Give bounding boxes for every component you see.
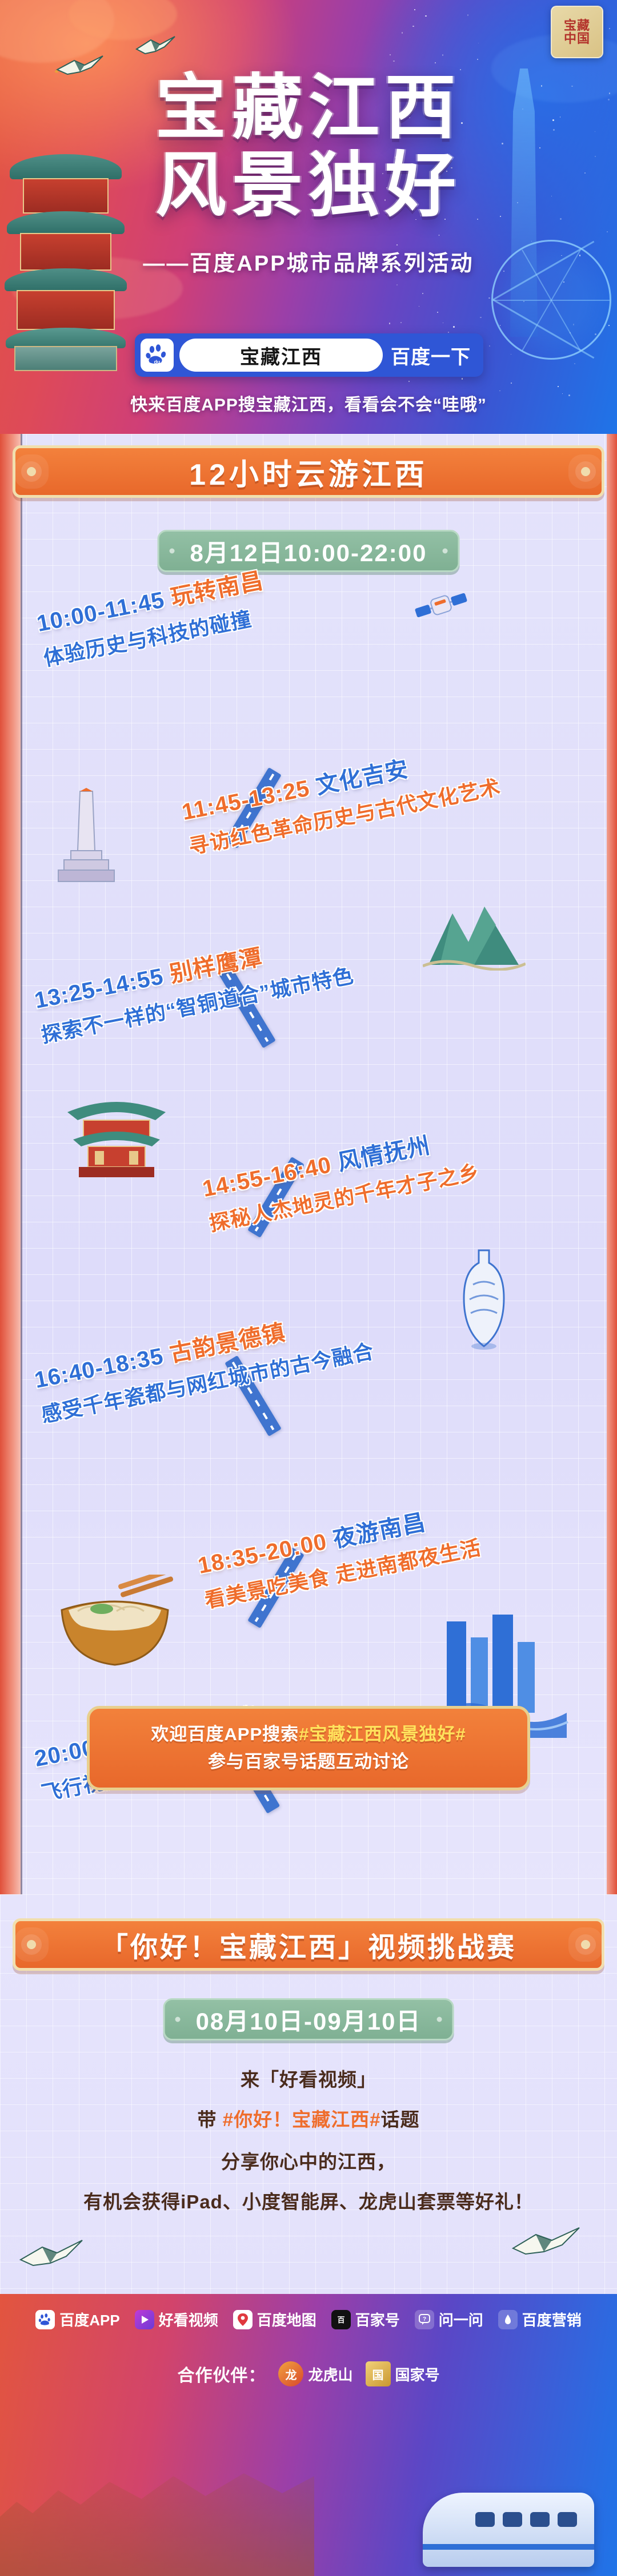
timeline-item[interactable]: 16:40-18:35 古韵景德镇 感受千年瓷都与网红城市的古今融合 [31,1298,376,1428]
svg-text:du: du [154,359,161,365]
product-label: 百度地图 [257,2309,316,2330]
partner-longhushan[interactable]: 龙 龙虎山 [278,2361,352,2386]
high-speed-train-illustration [423,2493,594,2567]
notebook-left-edge [0,434,21,1894]
play-triangle-icon [135,2310,154,2329]
tour-cta-box[interactable]: 欢迎百度APP搜索#宝藏江西风景独好# 参与百家号话题互动讨论 [87,1706,530,1790]
campaign-seal-stamp: 宝藏 中国 [551,6,603,58]
product-wenyiwen[interactable]: ? 问一问 [415,2309,483,2330]
challenge-hashtag: #你好！宝藏江西# [223,2109,381,2130]
marketing-icon [498,2310,518,2329]
notebook-right-edge [607,434,617,1894]
challenge-line-2-prefix: 带 [198,2109,223,2130]
tour-section-title: 12小时云游江西 [189,450,428,493]
tour-section-title-ribbon: 12小时云游江西 [13,445,604,498]
partner-guojiahao[interactable]: 国 国家号 [366,2361,440,2386]
tour-section: 12小时云游江西 8月12日10:00-22:00 10:00-11:45 玩转… [0,434,617,1894]
challenge-line-1-text: 来「好看视频」 [241,2069,376,2090]
search-submit-button[interactable]: 百度一下 [388,341,478,369]
partners-label: 合作伙伴： [177,2361,266,2386]
product-label: 问一问 [439,2309,483,2330]
ribbon-rivet-left [27,1940,36,1949]
baidu-paw-icon [35,2310,55,2329]
cta-line-2: 参与百家号话题互动讨论 [208,1748,409,1776]
timeline-item[interactable]: 18:35-20:00 夜游南昌 看美景吃美食 走进南都夜生活 [195,1494,483,1614]
baidu-product-list: 百度APP 好看视频 百度地图 百 百家号 [0,2309,617,2330]
title-line-1: 宝藏江西 [0,72,617,144]
city-skyline-icon [434,1610,548,1718]
tour-date-badge: 8月12日10:00-22:00 [158,530,460,572]
challenge-section-title: 「你好！宝藏江西」视频挑战赛 [101,1925,516,1965]
challenge-line-1: 来「好看视频」 [0,2064,617,2092]
cta-prefix: 欢迎百度APP搜索 [151,1724,299,1744]
question-bubble-icon: ? [415,2310,434,2329]
satellite-icon [402,573,481,637]
product-label: 百家号 [355,2309,400,2330]
monument-icon [55,788,118,879]
baidu-paw-icon: du [141,339,174,372]
video-challenge-section: 「你好！宝藏江西」视频挑战赛 08月10日-09月10日 来「好看视频」 带 #… [0,1894,617,2294]
challenge-line-2-suffix: 话题 [380,2109,419,2130]
temple-icon [59,1089,151,1164]
svg-text:?: ? [423,2316,426,2323]
hero-subtitle: ——百度APP城市品牌系列活动 [0,245,617,277]
national-mark-icon: 国 [366,2361,391,2386]
great-wall-illustration [0,2433,314,2576]
product-label: 百度APP [59,2309,119,2330]
baijiahao-icon: 百 [331,2310,351,2329]
product-baidu-map[interactable]: 百度地图 [233,2309,316,2330]
product-label: 好看视频 [159,2309,218,2330]
challenge-line-3: 分享你心中的江西， [0,2147,617,2174]
product-baidu-app[interactable]: 百度APP [35,2309,119,2330]
porcelain-vase-icon [447,1245,510,1336]
challenge-line-2: 带 #你好！宝藏江西#话题 [0,2104,617,2132]
product-baidu-marketing[interactable]: 百度营销 [498,2309,582,2330]
title-line-2: 风景独好 [0,150,617,222]
hero-caption: 快来百度APP搜宝藏江西，看看会不会“哇哦” [0,391,617,416]
hero-banner: 宝藏 中国 宝藏江西 风景独好 ——百度APP城市品牌系列活动 du 宝藏江西 … [0,0,617,434]
search-input[interactable]: 宝藏江西 [179,339,383,372]
timeline-item[interactable]: 13:25-14:55 别样鹰潭 探索不一样的“智铜道合”城市特色 [31,922,356,1049]
crane-bird-icon [508,2223,583,2260]
crane-bird-icon [135,34,177,57]
ribbon-rivet-right [581,1940,590,1949]
challenge-date-badge: 08月10日-09月10日 [163,1998,454,2040]
timeline-item[interactable]: 10:00-11:45 玩转南昌 体验历史与科技的碰撞 [34,562,273,672]
footer-bar: 百度APP 好看视频 百度地图 百 百家号 [0,2294,617,2576]
noodle-bowl-icon [49,1575,158,1655]
challenge-title-ribbon: 「你好！宝藏江西」视频挑战赛 [13,1918,604,1971]
ribbon-rivet-left [27,467,36,476]
cta-hashtag: #宝藏江西风景独好# [299,1724,466,1744]
ribbon-rivet-right [581,467,590,476]
svg-text:百: 百 [337,2316,344,2324]
timeline-item[interactable]: 11:45-13:25 文化吉安 寻访红色革命历史与古代文化艺术 [179,734,503,860]
partners-row: 合作伙伴： 龙 龙虎山 国 国家号 [0,2361,617,2386]
stamp-text: 宝藏 中国 [564,19,590,45]
map-pin-icon [233,2310,253,2329]
challenge-line-4: 有机会获得iPad、小度智能屏、龙虎山套票等好礼！ [0,2187,617,2214]
campaign-poster: 宝藏 中国 宝藏江西 风景独好 ——百度APP城市品牌系列活动 du 宝藏江西 … [0,0,617,2576]
product-haokan-video[interactable]: 好看视频 [135,2309,218,2330]
product-label: 百度营销 [522,2309,582,2330]
product-baijiahao[interactable]: 百 百家号 [331,2309,400,2330]
cta-line-1: 欢迎百度APP搜索#宝藏江西风景独好# [151,1721,466,1748]
notebook-margin-line [21,434,22,1894]
crane-bird-icon [17,2237,86,2271]
dragon-mark-icon: 龙 [278,2361,303,2386]
partner-name: 国家号 [395,2364,440,2385]
page-title: 宝藏江西 风景独好 [0,72,617,222]
mountain-icon [423,891,508,959]
timeline-item[interactable]: 14:55-16:40 风情抚州 探秘人杰地灵的千年才子之乡 [199,1118,482,1237]
partner-name: 龙虎山 [308,2364,352,2385]
baidu-search-bar[interactable]: du 宝藏江西 百度一下 [135,333,483,377]
